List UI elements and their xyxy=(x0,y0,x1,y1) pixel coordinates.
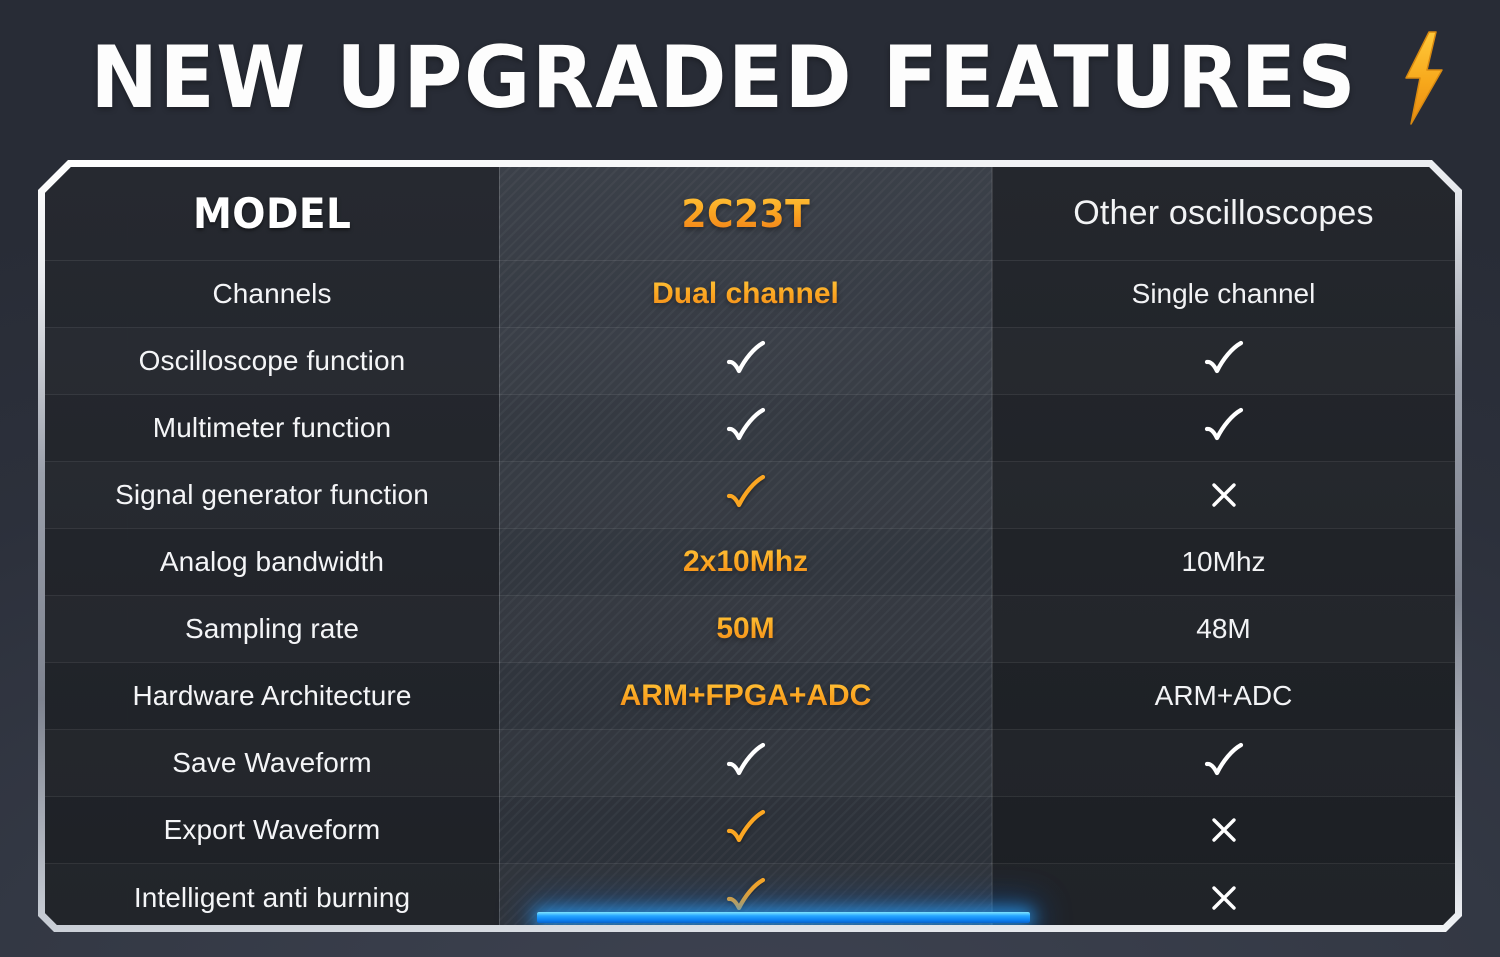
check-orange-icon xyxy=(724,809,768,851)
comparison-panel: MODEL2C23TOther oscilloscopesChannelsDua… xyxy=(45,167,1455,925)
product-value: 50M xyxy=(716,612,774,646)
table-cell-label: Analog bandwidth xyxy=(45,529,499,595)
table-cell-label: Save Waveform xyxy=(45,730,499,796)
row-label: Hardware Architecture xyxy=(132,680,411,712)
header-label-model: MODEL xyxy=(193,189,351,238)
row-label: Signal generator function xyxy=(115,479,429,511)
table-header-other: Other oscilloscopes xyxy=(992,167,1455,260)
table-cell-other xyxy=(992,730,1455,796)
table-cell-other: Single channel xyxy=(992,261,1455,327)
table-cell-label: Oscilloscope function xyxy=(45,328,499,394)
table-cell-label: Signal generator function xyxy=(45,462,499,528)
table-cell-label: Hardware Architecture xyxy=(45,663,499,729)
table-cell-other xyxy=(992,328,1455,394)
row-label: Channels xyxy=(212,278,331,310)
cross-icon xyxy=(1209,883,1239,913)
cross-icon xyxy=(1209,815,1239,845)
table-row: ChannelsDual channelSingle channel xyxy=(45,261,1455,328)
table-cell-product: ARM+FPGA+ADC xyxy=(499,663,992,729)
table-cell-label: Sampling rate xyxy=(45,596,499,662)
cross-icon xyxy=(1209,480,1239,510)
row-label: Sampling rate xyxy=(185,613,359,645)
table-cell-label: Channels xyxy=(45,261,499,327)
table-cell-other xyxy=(992,797,1455,863)
row-label: Intelligent anti burning xyxy=(134,882,410,914)
other-value: Single channel xyxy=(1132,278,1316,310)
header-label-other: Other oscilloscopes xyxy=(1073,194,1374,233)
other-value: ARM+ADC xyxy=(1155,680,1293,712)
table-cell-product: Dual channel xyxy=(499,261,992,327)
product-value: 2x10Mhz xyxy=(683,545,808,579)
table-cell-other xyxy=(992,462,1455,528)
table-cell-product: 50M xyxy=(499,596,992,662)
table-cell-product: 2x10Mhz xyxy=(499,529,992,595)
table-header-row: MODEL2C23TOther oscilloscopes xyxy=(45,167,1455,261)
page-title: NEW UPGRADED FEATURES xyxy=(91,35,1358,121)
page-header: NEW UPGRADED FEATURES xyxy=(0,0,1500,150)
table-row: Export Waveform xyxy=(45,797,1455,864)
table-cell-label: Export Waveform xyxy=(45,797,499,863)
lightning-bolt-icon xyxy=(1398,30,1450,126)
table-cell-label: Multimeter function xyxy=(45,395,499,461)
check-icon xyxy=(724,742,768,784)
table-cell-product xyxy=(499,730,992,796)
table-row: Signal generator function xyxy=(45,462,1455,529)
check-icon xyxy=(1202,340,1246,382)
highlight-accent-bar xyxy=(537,912,1030,923)
comparison-panel-frame: MODEL2C23TOther oscilloscopesChannelsDua… xyxy=(38,160,1462,932)
table-cell-other xyxy=(992,395,1455,461)
table-cell-product xyxy=(499,328,992,394)
table-row: Analog bandwidth2x10Mhz10Mhz xyxy=(45,529,1455,596)
row-label: Analog bandwidth xyxy=(160,546,384,578)
row-label: Oscilloscope function xyxy=(139,345,406,377)
row-label: Multimeter function xyxy=(153,412,391,444)
table-header-model: MODEL xyxy=(45,167,499,260)
row-label: Export Waveform xyxy=(164,814,381,846)
row-label: Save Waveform xyxy=(172,747,371,779)
comparison-table: MODEL2C23TOther oscilloscopesChannelsDua… xyxy=(45,167,1455,925)
table-row: Sampling rate50M48M xyxy=(45,596,1455,663)
table-row: Multimeter function xyxy=(45,395,1455,462)
header-label-product: 2C23T xyxy=(681,192,810,236)
table-row: Oscilloscope function xyxy=(45,328,1455,395)
table-cell-other: ARM+ADC xyxy=(992,663,1455,729)
table-cell-product xyxy=(499,797,992,863)
check-icon xyxy=(724,340,768,382)
table-cell-other: 10Mhz xyxy=(992,529,1455,595)
product-value: Dual channel xyxy=(652,277,839,311)
table-row: Save Waveform xyxy=(45,730,1455,797)
check-icon xyxy=(1202,407,1246,449)
table-row: Hardware ArchitectureARM+FPGA+ADCARM+ADC xyxy=(45,663,1455,730)
other-value: 48M xyxy=(1196,613,1250,645)
table-cell-label: Intelligent anti burning xyxy=(45,864,499,925)
table-cell-other xyxy=(992,864,1455,925)
table-header-product: 2C23T xyxy=(499,167,992,260)
table-cell-product xyxy=(499,462,992,528)
other-value: 10Mhz xyxy=(1181,546,1265,578)
table-cell-product xyxy=(499,395,992,461)
check-orange-icon xyxy=(724,474,768,516)
product-value: ARM+FPGA+ADC xyxy=(620,679,872,713)
table-cell-other: 48M xyxy=(992,596,1455,662)
check-icon xyxy=(1202,742,1246,784)
check-icon xyxy=(724,407,768,449)
